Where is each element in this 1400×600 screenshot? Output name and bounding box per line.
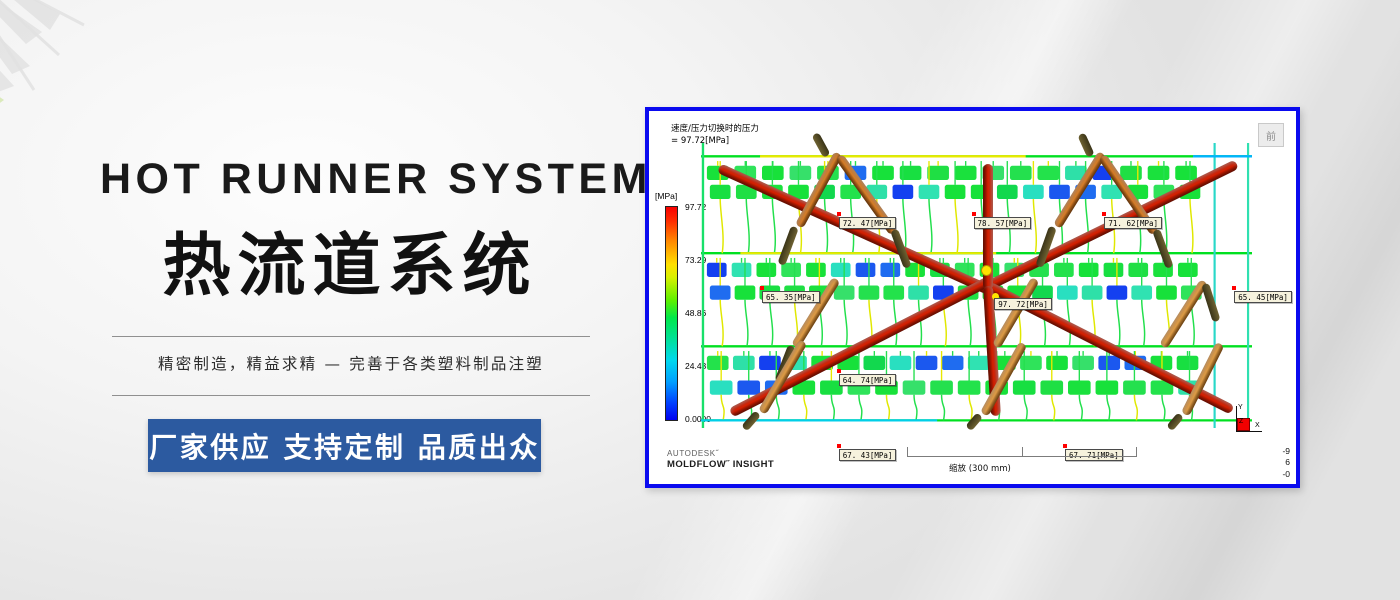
measurement-marker: [1102, 212, 1106, 216]
measurement-marker: [760, 286, 764, 290]
promo-badge-label: 厂家供应 支持定制 品质出众: [149, 426, 540, 466]
banner-text-block: HOT RUNNER SYSTEM 热流道系统 精密制造，精益求精 — 完善于各…: [0, 0, 640, 600]
measurement-label: 67. 43[MPa]: [839, 449, 897, 461]
moldflow-simulation-image: 速度/压力切换时的压力 = 97.72[MPa] 前 [MPa] 97.72 7…: [645, 107, 1300, 488]
axis-triad: Z Y X: [1228, 406, 1262, 440]
measurement-label: 71. 62[MPa]: [1104, 217, 1162, 229]
measurement-label: 78. 57[MPa]: [974, 217, 1032, 229]
measurement-marker: [1232, 286, 1236, 290]
scale-bar: [907, 447, 1137, 457]
measurement-marker: [837, 444, 841, 448]
divider-top: [112, 336, 590, 337]
moldflow-wordmark: MOLDFLOW˝ INSIGHT: [667, 459, 774, 470]
axis-z-label: Z: [1239, 418, 1243, 425]
measurement-label: 64. 74[MPa]: [839, 374, 897, 386]
coordinate-readout: -9 6 -0: [1282, 446, 1290, 480]
english-title: HOT RUNNER SYSTEM: [100, 155, 600, 204]
measurement-label: 72. 47[MPa]: [839, 217, 897, 229]
legend-unit-label: [MPa]: [655, 191, 677, 201]
autodesk-logo: AUTODESK˝ MOLDFLOW˝ INSIGHT: [667, 449, 774, 470]
scale-bar-label: 缩放 (300 mm): [949, 462, 1011, 474]
front-view-button[interactable]: 前: [1258, 123, 1284, 147]
central-injection-node: [981, 265, 992, 276]
coordinate-value-2: -0: [1282, 469, 1290, 480]
divider-bottom: [112, 395, 590, 396]
measurement-marker: [837, 369, 841, 373]
chinese-title: 热流道系统: [100, 228, 600, 306]
axis-y-label: Y: [1238, 404, 1243, 411]
measurement-label: 97. 72[MPa]: [994, 298, 1052, 310]
measurement-marker: [837, 212, 841, 216]
measurement-label: 65. 45[MPa]: [1234, 291, 1292, 303]
mold-model-view: 72. 47[MPa]78. 57[MPa]71. 62[MPa]65. 35[…: [701, 143, 1252, 428]
axis-x-line: [1236, 431, 1262, 432]
pressure-colorbar: [665, 206, 678, 421]
subtitle: 精密制造，精益求精 — 完善于各类塑料制品注塑: [112, 352, 590, 374]
promo-badge: 厂家供应 支持定制 品质出众: [148, 419, 541, 472]
coordinate-value-0: -9: [1282, 446, 1290, 457]
measurement-label: 65. 35[MPa]: [762, 291, 820, 303]
coordinate-value-1: 6: [1282, 457, 1290, 468]
measurement-marker: [972, 212, 976, 216]
axis-x-label: X: [1255, 422, 1260, 429]
autodesk-wordmark: AUTODESK˝: [667, 449, 774, 459]
simulation-canvas: 速度/压力切换时的压力 = 97.72[MPa] 前 [MPa] 97.72 7…: [649, 111, 1296, 484]
